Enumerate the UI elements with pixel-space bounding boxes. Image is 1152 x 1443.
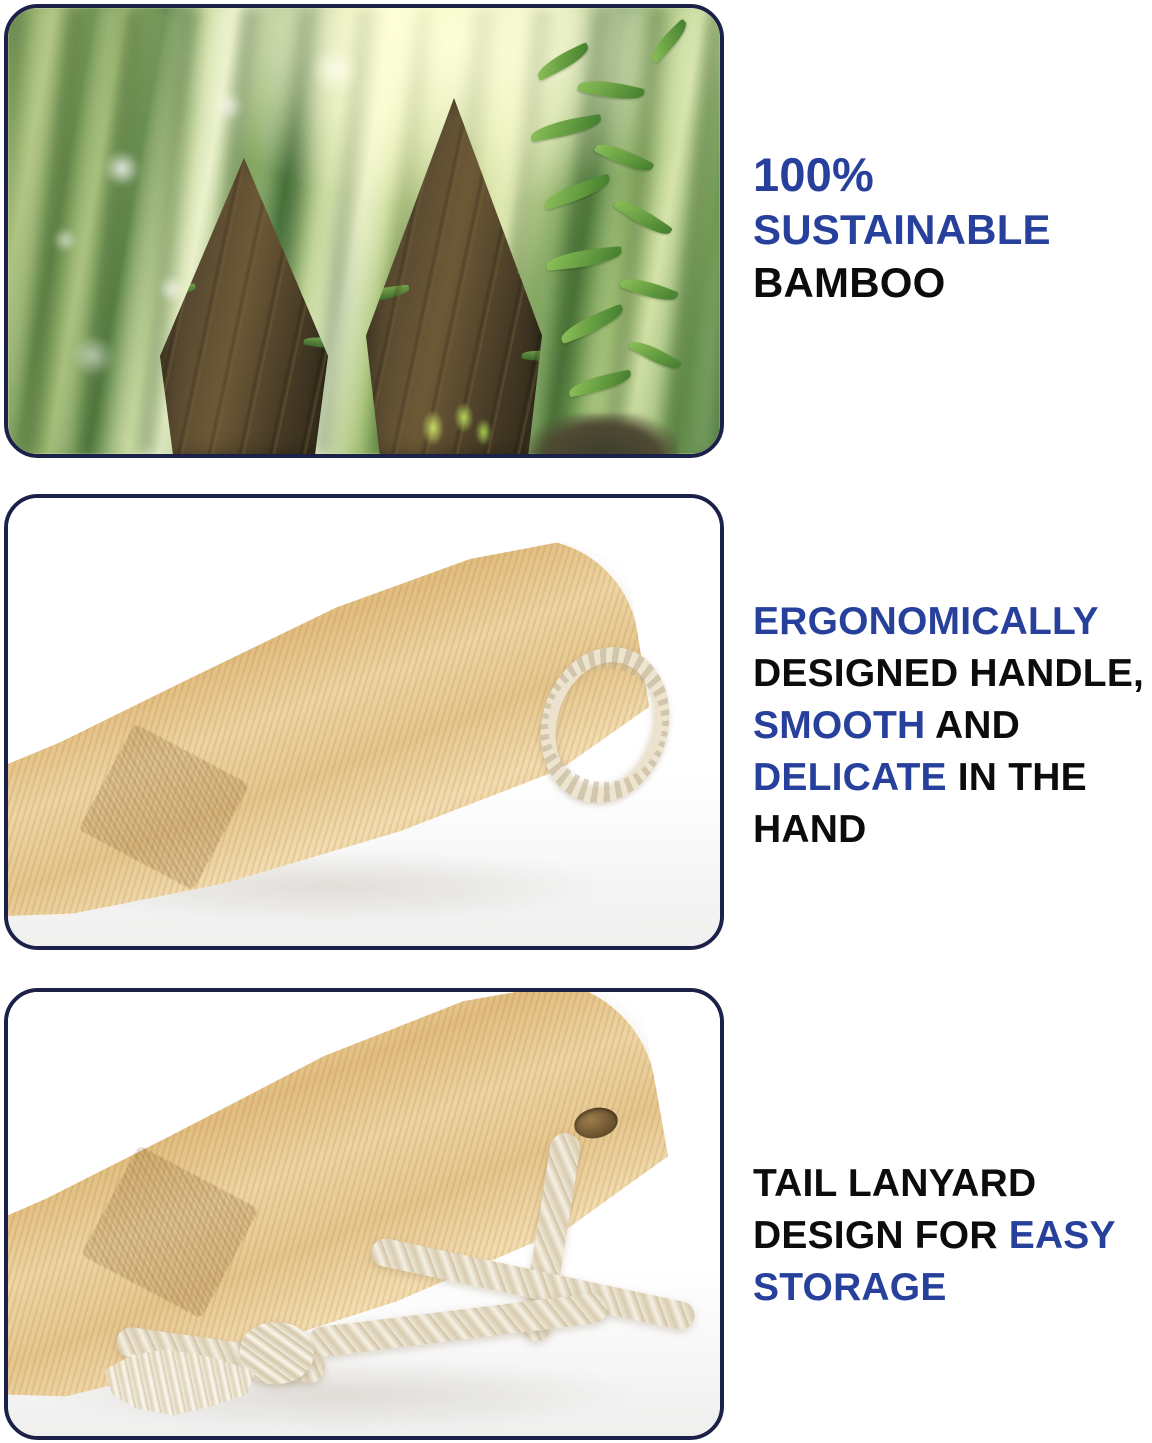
caption-run: HAND [753,808,866,851]
caption-run: 100 [753,148,832,201]
caption-run: BAMBOO [753,259,946,306]
bamboo-forest-photo [4,4,724,458]
caption-run: % [832,148,874,201]
caption-line: DESIGN FOR EASY [753,1210,1149,1262]
bamboo-lanyard-photo [4,988,724,1440]
caption-run: DELICATE [753,756,947,799]
caption-line: DELICATE IN THE [753,752,1149,804]
caption-sustainable-bamboo: 100% SUSTAINABLE BAMBOO [753,148,1149,309]
caption-run: STORAGE [753,1266,947,1309]
caption-tail-lanyard: TAIL LANYARD DESIGN FOR EASY STORAGE [753,1158,1149,1314]
caption-line: BAMBOO [753,256,1149,309]
caption-line: HAND [753,804,1149,856]
bamboo-handle-photo [4,494,724,950]
caption-run: AND [925,704,1020,747]
caption-line: TAIL LANYARD [753,1158,1149,1210]
caption-line: ERGONOMICALLY [753,596,1149,648]
caption-line: STORAGE [753,1262,1149,1314]
caption-run: ERGONOMICALLY [753,600,1099,643]
bamboo-leaf-branch [524,24,714,424]
caption-line: SUSTAINABLE [753,203,1149,256]
infographic-canvas: 100% SUSTAINABLE BAMBOO ERGONOMICALLY [0,0,1152,1443]
caption-run: DESIGNED HANDLE, [753,652,1144,695]
caption-line: 100% [753,148,1149,203]
caption-run: TAIL LANYARD [753,1162,1036,1205]
bamboo-lanyard-media [8,992,720,1436]
young-sprout [400,386,510,454]
caption-run: IN THE [947,756,1087,799]
caption-run: EASY [1009,1214,1116,1257]
caption-run: SMOOTH [753,704,925,747]
caption-run: SUSTAINABLE [753,206,1051,253]
bamboo-forest-media [8,8,720,454]
caption-line: DESIGNED HANDLE, [753,648,1149,700]
caption-ergonomic-handle: ERGONOMICALLY DESIGNED HANDLE, SMOOTH AN… [753,596,1149,856]
caption-line: SMOOTH AND [753,700,1149,752]
bamboo-handle-media [8,498,720,946]
caption-run: DESIGN FOR [753,1214,1009,1257]
